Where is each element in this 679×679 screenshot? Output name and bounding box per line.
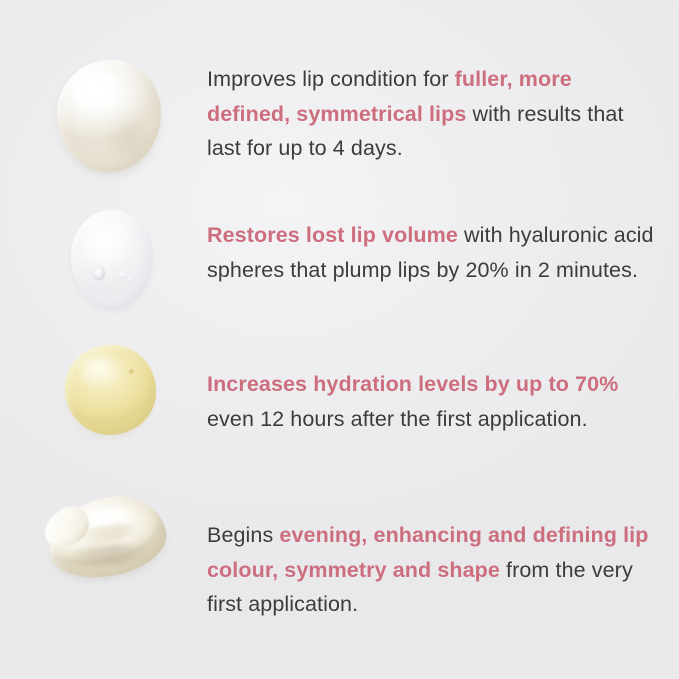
- yellow-oil-swatch-icon: [65, 345, 156, 435]
- benefits-list: Improves lip condition for fuller, more …: [0, 0, 679, 679]
- plain-text: even 12 hours after the first applicatio…: [207, 407, 588, 431]
- gel-bubble-icon: [128, 276, 134, 282]
- swatch-cell: [0, 297, 200, 447]
- emphasis-text: Restores lost lip volume: [207, 223, 458, 247]
- swatch-cell: [0, 150, 200, 300]
- oil-speck-icon: [129, 369, 134, 374]
- white-cream-swatch-icon: [48, 498, 166, 576]
- emphasis-text: Increases hydration levels by up to 70%: [207, 372, 618, 396]
- swatch-cell: [0, 440, 200, 590]
- clear-gel-swatch-icon: [71, 210, 153, 309]
- cream-gloss: [83, 506, 135, 528]
- plain-text: Begins: [207, 523, 279, 547]
- benefit-text: Increases hydration levels by up to 70% …: [207, 367, 655, 436]
- gel-bubble-icon: [136, 233, 140, 237]
- benefit-text: Begins evening, enhancing and defining l…: [207, 518, 655, 622]
- benefit-row: Begins evening, enhancing and defining l…: [0, 440, 679, 650]
- swatch-cell: [0, 0, 200, 150]
- plain-text: Improves lip condition for: [207, 67, 455, 91]
- benefit-text: Restores lost lip volume with hyaluronic…: [207, 218, 655, 287]
